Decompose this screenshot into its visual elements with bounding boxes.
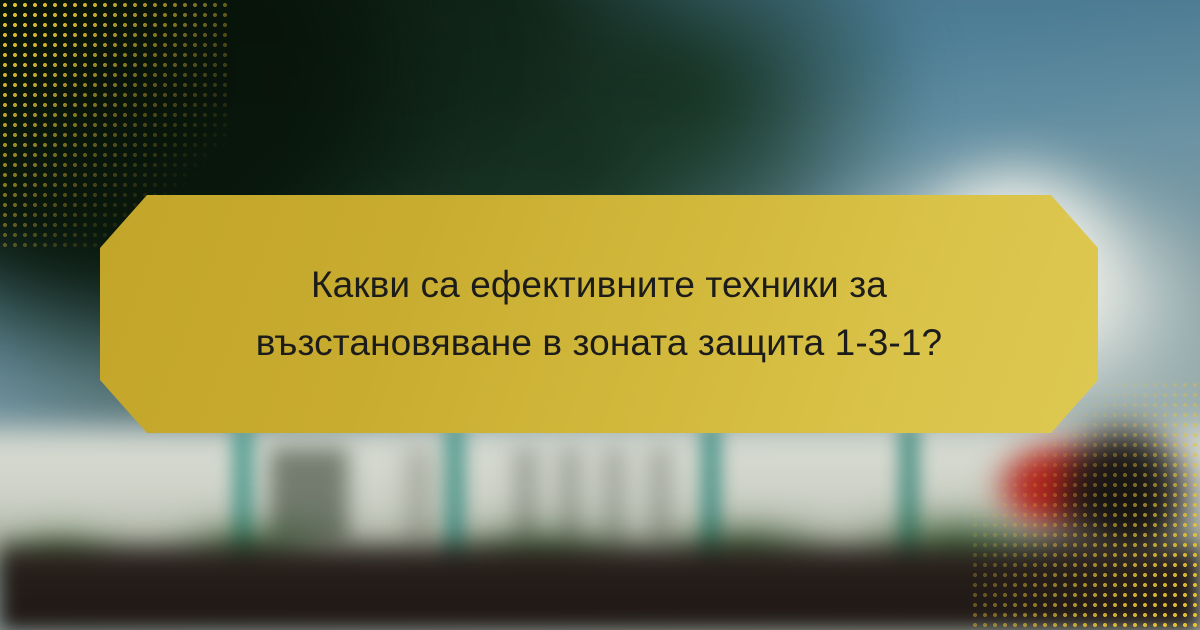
question-title: Какви са ефективните техники за възстано…: [249, 256, 949, 372]
question-card-canvas: Какви са ефективните техники за възстано…: [0, 0, 1200, 630]
question-banner: Какви са ефективните техники за възстано…: [100, 195, 1098, 433]
